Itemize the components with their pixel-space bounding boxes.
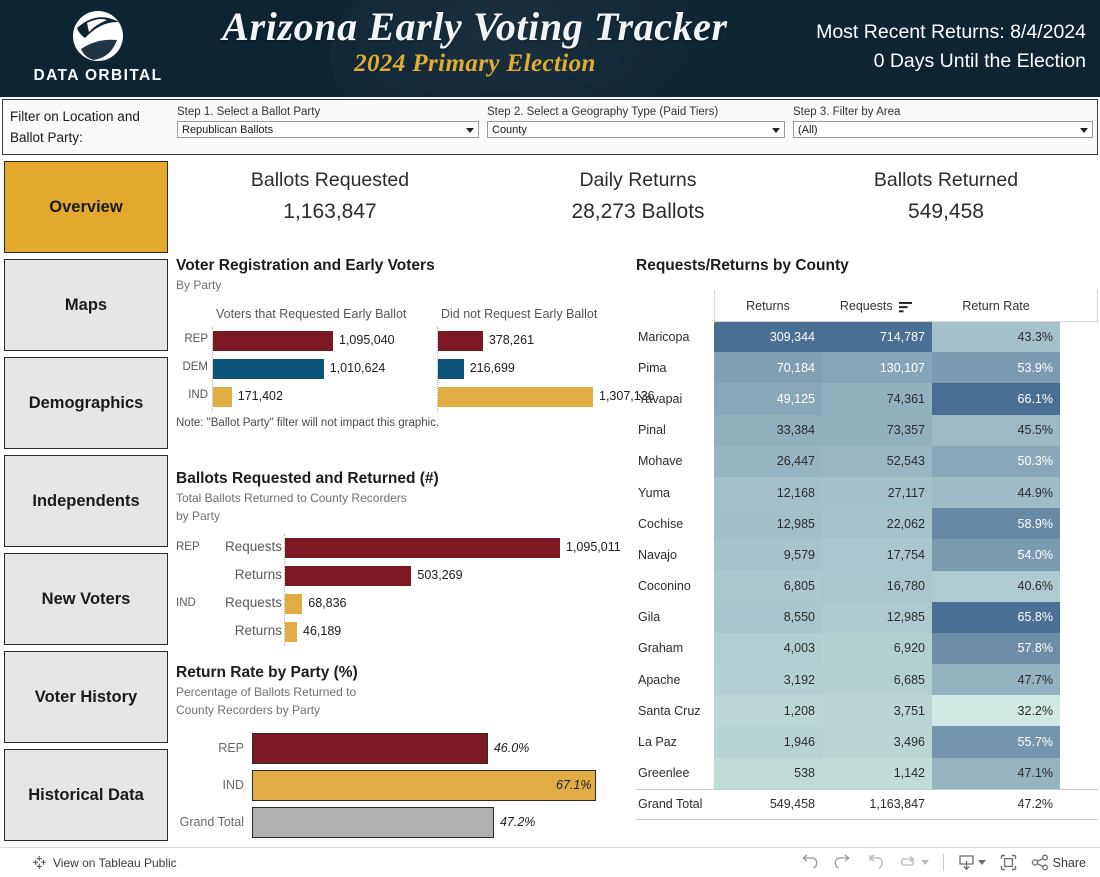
table-cell-total-label: Grand Total: [636, 790, 714, 819]
bar-label: 47.2%: [500, 815, 535, 829]
table-cell-returns: 4,003: [714, 633, 822, 664]
orbital-sphere-icon: [67, 8, 129, 66]
table-cell-county: Pinal: [636, 415, 714, 446]
left-charts-column: Voter Registration and Early Voters By P…: [176, 257, 636, 841]
chevron-down-icon: [466, 128, 474, 133]
table-cell-returns: 1,946: [714, 726, 822, 757]
table-cell-requests: 3,496: [822, 726, 932, 757]
table-cell-county: Graham: [636, 633, 714, 664]
download-icon: [958, 854, 975, 871]
chart-voter-registration: Voter Registration and Early Voters By P…: [176, 257, 636, 452]
geography-type-select[interactable]: County: [487, 121, 785, 138]
chevron-down-icon: [772, 128, 780, 133]
chart1-row-dem: DEM 1,010,624 216,699: [176, 355, 636, 383]
bar-ind-requests: [285, 594, 302, 614]
bar-label: 1,010,624: [330, 361, 386, 375]
toolbar-actions: Share: [800, 854, 1086, 871]
sidebar-item-new-voters[interactable]: New Voters: [4, 553, 168, 645]
table-body: Maricopa309,344714,78743.3%Pima70,184130…: [636, 321, 1098, 820]
table-cell-requests: 74,361: [822, 383, 932, 414]
share-icon: [1031, 854, 1050, 871]
view-on-tableau-public-button[interactable]: View on Tableau Public: [32, 855, 177, 870]
table-cell-returns: 26,447: [714, 446, 822, 477]
sidebar-item-voter-history[interactable]: Voter History: [4, 651, 168, 743]
table-cell-returns: 3,192: [714, 664, 822, 695]
filter-bar-title: Filter on Location and Ballot Party:: [10, 107, 170, 149]
chart1-cat-label: IND: [176, 389, 208, 401]
chart-ballots-requested-returned: Ballots Requested and Returned (#) Total…: [176, 470, 636, 650]
sidebar-item-label: Voter History: [35, 688, 137, 707]
bar-label: 46,189: [303, 624, 341, 638]
most-recent-returns: Most Recent Returns: 8/4/2024: [816, 18, 1086, 47]
bar-grand-total-return-rate: [252, 807, 494, 838]
table-cell-returns: 9,579: [714, 539, 822, 570]
table-cell-requests: 27,117: [822, 477, 932, 508]
chart1-header-not-requested: Did not Request Early Ballot: [441, 307, 597, 321]
revert-icon: [866, 854, 885, 871]
area-value: (All): [794, 124, 818, 136]
bar-rep-requests: [285, 538, 560, 558]
table-cell-total-requests: 1,163,847: [822, 790, 932, 819]
bar-label: 503,269: [417, 568, 462, 582]
kpi-ballots-returned: Ballots Returned 549,458: [792, 169, 1100, 224]
table-title: Requests/Returns by County: [636, 257, 1100, 275]
table-cell-return-rate: 47.7%: [932, 664, 1060, 695]
refresh-icon: [899, 856, 918, 870]
table-cell-total-rate: 47.2%: [932, 790, 1060, 819]
chart2-row-rep-requests: REP Requests 1,095,011: [176, 534, 636, 562]
table-cell-county: Greenlee: [636, 758, 714, 789]
table-cell-return-rate: 32.2%: [932, 695, 1060, 726]
table-row[interactable]: Yavapai49,12574,36166.1%: [636, 383, 1098, 414]
table-cell-return-rate: 58.9%: [932, 508, 1060, 539]
table-row[interactable]: Coconino6,80516,78040.6%: [636, 571, 1098, 602]
bar-rep-return-rate: [252, 733, 488, 764]
bar-label: 378,261: [489, 333, 534, 347]
requests-returns-table: Returns Requests Return Rate: [636, 291, 1098, 820]
table-col-returns[interactable]: Returns: [714, 299, 822, 313]
chart3-cat-label: REP: [176, 741, 244, 755]
chart-title: Voter Registration and Early Voters: [176, 257, 636, 275]
table-row[interactable]: Yuma12,16827,11744.9%: [636, 477, 1098, 508]
table-cell-return-rate: 50.3%: [932, 446, 1060, 477]
kpi-ballots-requested: Ballots Requested 1,163,847: [176, 169, 484, 224]
table-cell-return-rate: 66.1%: [932, 383, 1060, 414]
kpi-value: 28,273 Ballots: [484, 200, 792, 224]
sort-descending-icon[interactable]: [898, 301, 914, 313]
bottom-toolbar: View on Tableau Public: [0, 847, 1100, 877]
table-cell-requests: 6,920: [822, 633, 932, 664]
kpi-value: 549,458: [792, 200, 1100, 224]
chart1-header-requested: Voters that Requested Early Ballot: [216, 307, 406, 321]
chart3-row-grand-total: Grand Total 47.2%: [176, 804, 636, 841]
kpi-daily-returns: Daily Returns 28,273 Ballots: [484, 169, 792, 224]
dashboard-body: Overview Maps Demographics Independents …: [0, 155, 1100, 847]
table-cell-county: Yavapai: [636, 383, 714, 414]
ballot-party-value: Republican Ballots: [178, 124, 273, 136]
brand-name: DATA ORBITAL: [18, 67, 178, 85]
undo-icon: [800, 854, 819, 871]
bar-rep-requested: [213, 331, 333, 351]
table-row[interactable]: Apache3,1926,68547.7%: [636, 664, 1098, 695]
table-row[interactable]: Cochise12,98522,06258.9%: [636, 508, 1098, 539]
geography-type-value: County: [488, 124, 527, 136]
table-col-return-rate[interactable]: Return Rate: [932, 299, 1060, 313]
sidebar-item-historical-data[interactable]: Historical Data: [4, 749, 168, 841]
table-cell-requests: 714,787: [822, 321, 932, 352]
bar-dem-requested: [213, 359, 324, 379]
table-cell-returns: 309,344: [714, 321, 822, 352]
chart3-cat-label: Grand Total: [176, 815, 244, 829]
table-header-underline: [714, 321, 1098, 322]
dashboard-title-block: Arizona Early Voting Tracker 2024 Primar…: [190, 2, 760, 78]
filter-group-geography-type: Step 2. Select a Geography Type (Paid Ti…: [487, 106, 785, 138]
chart3-plot: REP 46.0% IND 67.1% Grand Total 4: [176, 730, 636, 841]
chevron-down-icon: [978, 860, 986, 865]
table-cell-county: Cochise: [636, 508, 714, 539]
bar-label: 67.1%: [556, 778, 591, 792]
table-cell-requests: 73,357: [822, 415, 932, 446]
table-row[interactable]: La Paz1,9463,49655.7%: [636, 726, 1098, 757]
header-status-block: Most Recent Returns: 8/4/2024 0 Days Unt…: [816, 18, 1086, 77]
table-cell-returns: 12,985: [714, 508, 822, 539]
table-cell-county: Coconino: [636, 571, 714, 602]
chart2-plot: REP Requests 1,095,011 Returns 503,269: [176, 534, 636, 646]
table-cell-county: Gila: [636, 602, 714, 633]
chart2-row-ind-returns: Returns 46,189: [176, 618, 636, 646]
chart2-metric-label: Requests: [204, 595, 282, 610]
fullscreen-button[interactable]: [1000, 854, 1017, 871]
table-cell-return-rate: 54.0%: [932, 539, 1060, 570]
table-cell-requests: 52,543: [822, 446, 932, 477]
table-cell-county: Santa Cruz: [636, 695, 714, 726]
chart-subtitle-line1: Percentage of Ballots Returned to: [176, 684, 636, 700]
bar-label: 216,699: [470, 361, 515, 375]
bar-label: 68,836: [308, 596, 346, 610]
table-cell-county: Pima: [636, 352, 714, 383]
table-cell-returns: 538: [714, 758, 822, 789]
sidebar-nav: Overview Maps Demographics Independents …: [4, 161, 168, 847]
chart2-metric-label: Returns: [204, 567, 282, 582]
chart1-plot: REP 1,095,040 378,261 DEM 1,010,624 216,…: [176, 327, 636, 411]
table-cell-county: Navajo: [636, 539, 714, 570]
tableau-public-label: View on Tableau Public: [53, 856, 177, 870]
chart1-column-headers: Voters that Requested Early Ballot Did n…: [176, 307, 636, 325]
sidebar-item-overview[interactable]: Overview: [4, 161, 168, 253]
sidebar-item-label: Independents: [32, 492, 139, 511]
chart2-row-rep-returns: Returns 503,269: [176, 562, 636, 590]
share-label: Share: [1053, 856, 1086, 870]
filter-label-area: Step 3. Filter by Area: [793, 106, 1093, 118]
table-row[interactable]: Maricopa309,344714,78743.3%: [636, 321, 1098, 352]
table-cell-requests: 130,107: [822, 352, 932, 383]
table-cell-returns: 33,384: [714, 415, 822, 446]
table-row[interactable]: Navajo9,57917,75454.0%: [636, 539, 1098, 570]
table-cell-return-rate: 44.9%: [932, 477, 1060, 508]
chart1-row-rep: REP 1,095,040 378,261: [176, 327, 636, 355]
table-cell-return-rate: 40.6%: [932, 571, 1060, 602]
table-row[interactable]: Pima70,184130,10753.9%: [636, 352, 1098, 383]
sidebar-item-independents[interactable]: Independents: [4, 455, 168, 547]
chart2-party-label: IND: [176, 597, 202, 609]
fullscreen-icon: [1000, 854, 1017, 871]
bar-label: 46.0%: [494, 741, 529, 755]
sidebar-item-label: New Voters: [42, 590, 131, 609]
table-cell-requests: 3,751: [822, 695, 932, 726]
chart2-metric-label: Returns: [204, 623, 282, 638]
table-cell-return-rate: 57.8%: [932, 633, 1060, 664]
table-cell-requests: 1,142: [822, 758, 932, 789]
table-col-requests[interactable]: Requests: [822, 299, 932, 313]
chart2-party-label: REP: [176, 541, 202, 553]
table-header-divider-right: [1097, 291, 1098, 323]
bar-ind-return-rate: [252, 770, 596, 801]
table-cell-requests: 12,985: [822, 602, 932, 633]
download-button[interactable]: [958, 854, 986, 871]
filter-group-area: Step 3. Filter by Area (All): [793, 106, 1093, 138]
table-cell-county: Mohave: [636, 446, 714, 477]
chart1-note: Note: "Ballot Party" filter will not imp…: [176, 417, 636, 429]
redo-icon: [833, 854, 852, 871]
filter-group-ballot-party: Step 1. Select a Ballot Party Republican…: [177, 106, 479, 138]
table-cell-total-returns: 549,458: [714, 790, 822, 819]
app-header: DATA ORBITAL Arizona Early Voting Tracke…: [0, 0, 1100, 97]
sidebar-item-label: Overview: [49, 198, 122, 217]
table-header-divider: [714, 291, 715, 323]
bar-label: 1,095,040: [339, 333, 395, 347]
table-cell-returns: 49,125: [714, 383, 822, 414]
chart1-cat-label: DEM: [176, 361, 208, 373]
kpi-row: Ballots Requested 1,163,847 Daily Return…: [176, 155, 1100, 224]
table-row[interactable]: Pinal33,38473,35745.5%: [636, 415, 1098, 446]
bar-ind-not-requested: [438, 387, 593, 407]
table-col-requests-label: Requests: [840, 299, 893, 313]
share-button[interactable]: Share: [1031, 854, 1086, 871]
table-cell-returns: 8,550: [714, 602, 822, 633]
table-cell-requests: 6,685: [822, 664, 932, 695]
refresh-button[interactable]: [899, 856, 929, 870]
table-cell-returns: 12,168: [714, 477, 822, 508]
table-cell-returns: 1,208: [714, 695, 822, 726]
brand-block: DATA ORBITAL: [18, 8, 178, 85]
sidebar-item-maps[interactable]: Maps: [4, 259, 168, 351]
filter-bar: Filter on Location and Ballot Party: Ste…: [2, 99, 1098, 155]
days-until-election: 0 Days Until the Election: [816, 47, 1086, 76]
kpi-label: Ballots Returned: [792, 169, 1100, 192]
table-cell-county: La Paz: [636, 726, 714, 757]
filter-label-ballot-party: Step 1. Select a Ballot Party: [177, 106, 479, 118]
sidebar-item-label: Demographics: [29, 394, 144, 413]
table-cell-county: Yuma: [636, 477, 714, 508]
kpi-label: Ballots Requested: [176, 169, 484, 192]
chart1-cat-label: REP: [176, 333, 208, 345]
sidebar-item-label: Historical Data: [28, 786, 144, 805]
table-cell-returns: 6,805: [714, 571, 822, 602]
table-cell-requests: 16,780: [822, 571, 932, 602]
chart-subtitle-line2: by Party: [176, 508, 636, 524]
toolbar-divider: [943, 854, 944, 871]
bar-ind-requested: [213, 387, 232, 407]
table-cell-county: Maricopa: [636, 321, 714, 352]
chart3-row-rep: REP 46.0%: [176, 730, 636, 767]
table-cell-return-rate: 43.3%: [932, 321, 1060, 352]
table-cell-return-rate: 45.5%: [932, 415, 1060, 446]
redo-button[interactable]: [833, 854, 852, 871]
bar-rep-returns: [285, 566, 411, 586]
page-subtitle: 2024 Primary Election: [190, 50, 760, 78]
bar-dem-not-requested: [438, 359, 464, 379]
table-cell-return-rate: 53.9%: [932, 352, 1060, 383]
page-title: Arizona Early Voting Tracker: [190, 2, 760, 52]
undo-button[interactable]: [800, 854, 819, 871]
table-cell-return-rate: 65.8%: [932, 602, 1060, 633]
main-content: Ballots Requested 1,163,847 Daily Return…: [176, 155, 1100, 847]
bar-label: 171,402: [238, 389, 283, 403]
chart-title: Ballots Requested and Returned (#): [176, 470, 636, 488]
chart-subtitle-line1: Total Ballots Returned to County Recorde…: [176, 490, 636, 506]
tableau-logo-icon: [32, 855, 47, 870]
county-table-panel: Requests/Returns by County Returns Reque…: [636, 257, 1100, 820]
chart-title: Return Rate by Party (%): [176, 664, 636, 682]
chart3-row-ind: IND 67.1%: [176, 767, 636, 804]
table-cell-return-rate: 55.7%: [932, 726, 1060, 757]
chevron-down-icon: [1080, 128, 1088, 133]
chart1-row-ind: IND 171,402 1,307,136: [176, 383, 636, 411]
table-row[interactable]: Mohave26,44752,54350.3%: [636, 446, 1098, 477]
chart2-row-ind-requests: IND Requests 68,836: [176, 590, 636, 618]
chart2-metric-label: Requests: [204, 539, 282, 554]
kpi-label: Daily Returns: [484, 169, 792, 192]
table-cell-return-rate: 47.1%: [932, 758, 1060, 789]
table-row[interactable]: Greenlee5381,14247.1%: [636, 758, 1098, 789]
chart-subtitle-line2: County Recorders by Party: [176, 702, 636, 718]
table-total-row: Grand Total549,4581,163,84747.2%: [636, 789, 1098, 820]
table-cell-county: Apache: [636, 664, 714, 695]
sidebar-item-label: Maps: [65, 296, 107, 315]
table-cell-returns: 70,184: [714, 352, 822, 383]
table-row[interactable]: Gila8,55012,98565.8%: [636, 602, 1098, 633]
sidebar-item-demographics[interactable]: Demographics: [4, 357, 168, 449]
revert-button[interactable]: [866, 854, 885, 871]
chart3-cat-label: IND: [176, 778, 244, 792]
table-row[interactable]: Graham4,0036,92057.8%: [636, 633, 1098, 664]
area-select[interactable]: (All): [793, 121, 1093, 138]
bar-rep-not-requested: [438, 331, 483, 351]
bar-ind-returns: [285, 622, 297, 642]
table-row[interactable]: Santa Cruz1,2083,75132.2%: [636, 695, 1098, 726]
chart-subtitle: By Party: [176, 277, 636, 293]
table-header-row: Returns Requests Return Rate: [636, 291, 1098, 321]
ballot-party-select[interactable]: Republican Ballots: [177, 121, 479, 138]
chevron-down-icon: [921, 860, 929, 865]
table-cell-requests: 17,754: [822, 539, 932, 570]
filter-label-geography-type: Step 2. Select a Geography Type (Paid Ti…: [487, 106, 785, 118]
bar-label: 1,095,011: [566, 540, 621, 554]
kpi-value: 1,163,847: [176, 200, 484, 224]
chart-return-rate-by-party: Return Rate by Party (%) Percentage of B…: [176, 664, 636, 841]
table-cell-requests: 22,062: [822, 508, 932, 539]
